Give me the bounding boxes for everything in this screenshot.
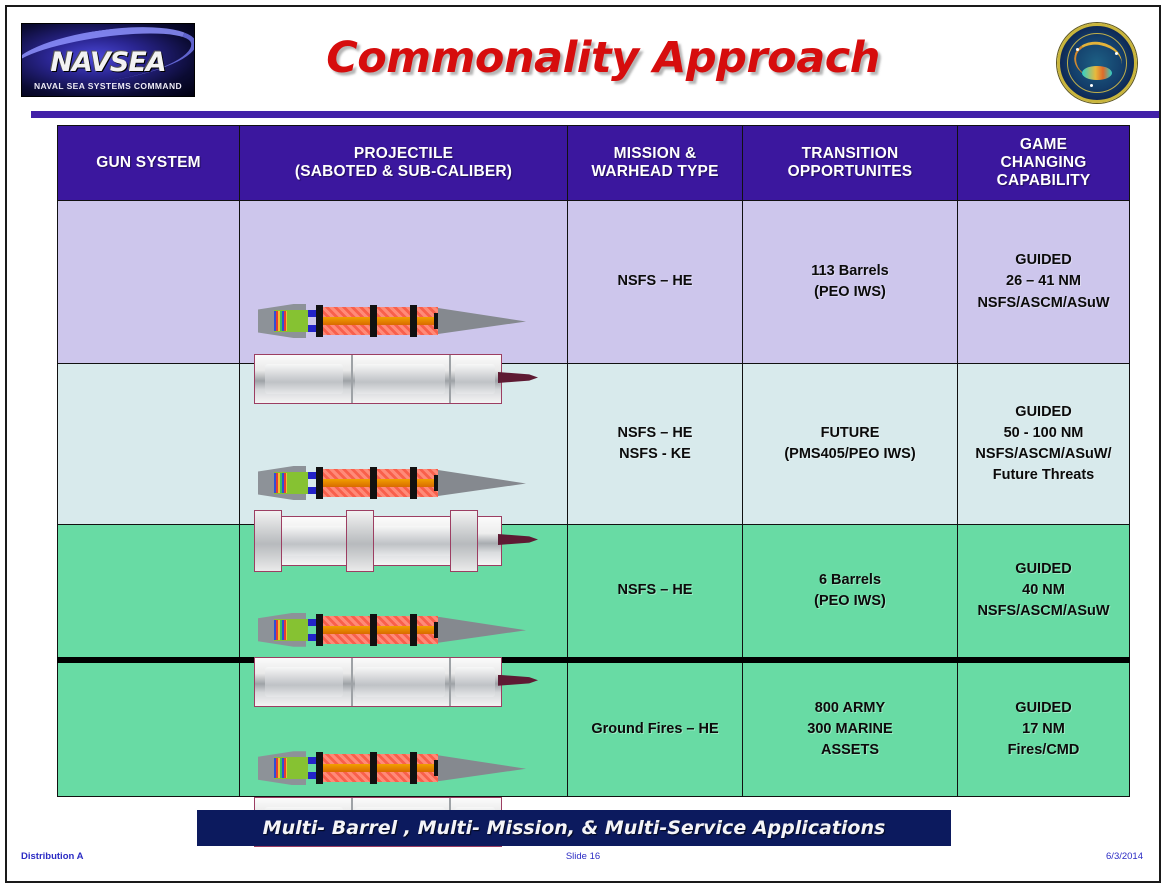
table-row: 20 – 32 MJ Railgun — [58, 364, 1130, 525]
column-header-gun-system: GUN SYSTEM — [58, 126, 240, 201]
projectile-cell — [240, 201, 568, 364]
capability-line3: Fires/CMD — [958, 740, 1129, 761]
round-core-channel — [323, 479, 438, 487]
transition-line2: (PMS405/PEO IWS) — [743, 444, 957, 465]
capability-line2: 40 NM — [958, 580, 1129, 601]
mission-cell: NSFS – HE — [568, 201, 743, 364]
round-base-stripes — [274, 473, 287, 493]
capability-line2: 26 – 41 NM — [958, 271, 1129, 292]
sabot-flange — [254, 510, 282, 572]
column-header-capability-line3: CAPABILITY — [958, 172, 1129, 190]
capability-value: GUIDED 40 NM NSFS/ASCM/ASuW — [958, 559, 1129, 622]
navsea-subtitle: NAVAL SEA SYSTEMS COMMAND — [22, 81, 194, 91]
column-header-projectile: PROJECTILE (SABOTED & SUB-CALIBER) — [240, 126, 568, 201]
navsea-logo: NAVSEA NAVAL SEA SYSTEMS COMMAND — [21, 23, 195, 97]
capability-line2: 50 - 100 NM — [958, 423, 1129, 444]
round-base-stripes — [274, 758, 287, 778]
transition-line1: FUTURE — [743, 423, 957, 444]
capability-cell: GUIDED 17 NM Fires/CMD — [958, 660, 1130, 797]
round-core-channel — [323, 626, 438, 634]
saboted-round-cutaway-graphic — [258, 460, 526, 506]
mission-value: Ground Fires – HE — [568, 719, 742, 740]
round-core-channel — [323, 764, 438, 772]
round-nose-cone — [438, 308, 526, 334]
seal-star — [1115, 52, 1118, 55]
column-header-transition-line1: TRANSITION — [743, 145, 957, 163]
mission-cell: NSFS – HE NSFS - KE — [568, 364, 743, 525]
round-band — [316, 467, 323, 499]
round-nose-cone — [438, 755, 526, 781]
round-nose-cone — [438, 617, 526, 643]
round-band — [370, 305, 377, 337]
capability-line1: GUIDED — [958, 698, 1129, 719]
round-band — [316, 305, 323, 337]
sabot-segment-line — [449, 355, 451, 403]
transition-value: FUTURE (PMS405/PEO IWS) — [743, 423, 957, 465]
mission-value: NSFS – HE — [568, 580, 742, 601]
seal-core — [1082, 66, 1112, 80]
sabot-flange — [346, 510, 374, 572]
transition-value: 800 ARMY 300 MARINE ASSETS — [743, 698, 957, 761]
sabot-waist — [455, 364, 495, 394]
seal-star — [1090, 84, 1093, 87]
capability-value: GUIDED 26 – 41 NM NSFS/ASCM/ASuW — [958, 250, 1129, 313]
transition-value: 113 Barrels (PEO IWS) — [743, 261, 957, 303]
page-title: Commonality Approach — [207, 33, 999, 83]
summary-banner-text: Multi- Barrel , Multi- Mission, & Multi-… — [263, 817, 886, 839]
column-header-gun-system-label: GUN SYSTEM — [58, 154, 239, 172]
mission-value: NSFS – HE — [568, 271, 742, 292]
slide-date: 6/3/2014 — [1106, 851, 1143, 862]
capability-line3: NSFS/ASCM/ASuW/ — [958, 444, 1129, 465]
column-header-projectile-line2: (SABOTED & SUB-CALIBER) — [240, 163, 567, 181]
slide-footer: Distribution A Slide 16 6/3/2014 — [7, 851, 1159, 871]
saboted-round-cutaway-graphic — [258, 745, 526, 791]
summary-banner: Multi- Barrel , Multi- Mission, & Multi-… — [197, 810, 951, 846]
round-band — [410, 467, 417, 499]
transition-cell: 113 Barrels (PEO IWS) — [743, 201, 958, 364]
capability-line2: 17 NM — [958, 719, 1129, 740]
transition-line1: 6 Barrels — [743, 570, 957, 591]
sabot-shell — [254, 354, 502, 404]
column-header-mission-line2: WARHEAD TYPE — [568, 163, 742, 181]
column-header-transition-line2: OPPORTUNITES — [743, 163, 957, 181]
sabot-package-graphic — [254, 354, 530, 402]
transition-cell: 800 ARMY 300 MARINE ASSETS — [743, 660, 958, 797]
header-rule — [7, 111, 1159, 118]
sabot-package-graphic — [254, 657, 530, 705]
transition-line3: ASSETS — [743, 740, 957, 761]
slide-number: Slide 16 — [7, 851, 1159, 862]
sabot-waist — [281, 526, 347, 556]
column-header-capability-line2: CHANGING — [958, 154, 1129, 172]
gun-system-cell: 155 mm – AGS — [58, 525, 240, 660]
slide-header: NAVSEA NAVAL SEA SYSTEMS COMMAND Commona… — [7, 7, 1159, 111]
round-band — [316, 614, 323, 646]
capability-value: GUIDED 17 NM Fires/CMD — [958, 698, 1129, 761]
sabot-waist — [355, 364, 445, 394]
capability-line4: Future Threats — [958, 465, 1129, 486]
transition-line1: 800 ARMY — [743, 698, 957, 719]
round-nose-cone — [438, 470, 526, 496]
sabot-waist — [455, 667, 495, 697]
sabot-segment-line — [351, 658, 353, 706]
column-header-capability: GAME CHANGING CAPABILITY — [958, 126, 1130, 201]
column-header-mission: MISSION & WARHEAD TYPE — [568, 126, 743, 201]
table-row: 155 mm – AGS — [58, 525, 1130, 660]
table-row: 155 mm — [58, 660, 1130, 797]
transition-cell: FUTURE (PMS405/PEO IWS) — [743, 364, 958, 525]
gun-system-cell: 20 – 32 MJ Railgun — [58, 364, 240, 525]
column-header-transition: TRANSITION OPPORTUNITES — [743, 126, 958, 201]
round-band — [370, 614, 377, 646]
capability-cell: GUIDED 40 NM NSFS/ASCM/ASuW — [958, 525, 1130, 660]
gun-system-cell: 5" MK 45 MOD 2/4 — [58, 201, 240, 364]
mission-cell: Ground Fires – HE — [568, 660, 743, 797]
transition-value: 6 Barrels (PEO IWS) — [743, 570, 957, 612]
transition-line2: (PEO IWS) — [743, 591, 957, 612]
sabot-shell — [254, 657, 502, 707]
capability-cell: GUIDED 26 – 41 NM NSFS/ASCM/ASuW — [958, 201, 1130, 364]
capability-line3: NSFS/ASCM/ASuW — [958, 601, 1129, 622]
table-row: 5" MK 45 MOD 2/4 — [58, 201, 1130, 364]
sabot-segment-line — [449, 658, 451, 706]
transition-line2: 300 MARINE — [743, 719, 957, 740]
saboted-round-cutaway-graphic — [258, 607, 526, 653]
capability-line1: GUIDED — [958, 559, 1129, 580]
sabot-waist — [265, 667, 343, 697]
saboted-round-cutaway-graphic — [258, 298, 526, 344]
capability-line1: GUIDED — [958, 250, 1129, 271]
sabot-segment-line — [351, 355, 353, 403]
mission-line1: NSFS – HE — [568, 423, 742, 444]
navsea-wordmark: NAVSEA — [22, 47, 194, 78]
round-band — [410, 614, 417, 646]
sabot-flange — [450, 510, 478, 572]
round-band — [410, 305, 417, 337]
capability-line3: NSFS/ASCM/ASuW — [958, 293, 1129, 314]
capability-line1: GUIDED — [958, 402, 1129, 423]
column-header-mission-line1: MISSION & — [568, 145, 742, 163]
table-header-row: GUN SYSTEM PROJECTILE (SABOTED & SUB-CAL… — [58, 126, 1130, 201]
sabot-package-graphic — [254, 516, 530, 564]
round-core-channel — [323, 317, 438, 325]
transition-cell: 6 Barrels (PEO IWS) — [743, 525, 958, 660]
round-band — [410, 752, 417, 784]
slide: NAVSEA NAVAL SEA SYSTEMS COMMAND Commona… — [5, 5, 1161, 883]
transition-line1: 113 Barrels — [743, 261, 957, 282]
mission-line2: NSFS - KE — [568, 444, 742, 465]
sabot-waist — [355, 667, 445, 697]
column-header-projectile-line1: PROJECTILE — [240, 145, 567, 163]
round-base-stripes — [274, 620, 287, 640]
sabot-waist — [373, 526, 455, 556]
round-band — [370, 467, 377, 499]
round-band — [370, 752, 377, 784]
naval-railgun-seal-icon — [1057, 23, 1137, 103]
header-rule-cap — [7, 111, 31, 118]
transition-line2: (PEO IWS) — [743, 282, 957, 303]
capability-value: GUIDED 50 - 100 NM NSFS/ASCM/ASuW/ Futur… — [958, 402, 1129, 486]
gun-system-cell: 155 mm — [58, 660, 240, 797]
seal-star — [1076, 48, 1079, 51]
commonality-table: GUN SYSTEM PROJECTILE (SABOTED & SUB-CAL… — [57, 125, 1130, 797]
mission-value: NSFS – HE NSFS - KE — [568, 423, 742, 465]
column-header-capability-line1: GAME — [958, 136, 1129, 154]
capability-cell: GUIDED 50 - 100 NM NSFS/ASCM/ASuW/ Futur… — [958, 364, 1130, 525]
mission-cell: NSFS – HE — [568, 525, 743, 660]
sabot-waist — [265, 364, 343, 394]
round-band — [316, 752, 323, 784]
round-base-stripes — [274, 311, 287, 331]
